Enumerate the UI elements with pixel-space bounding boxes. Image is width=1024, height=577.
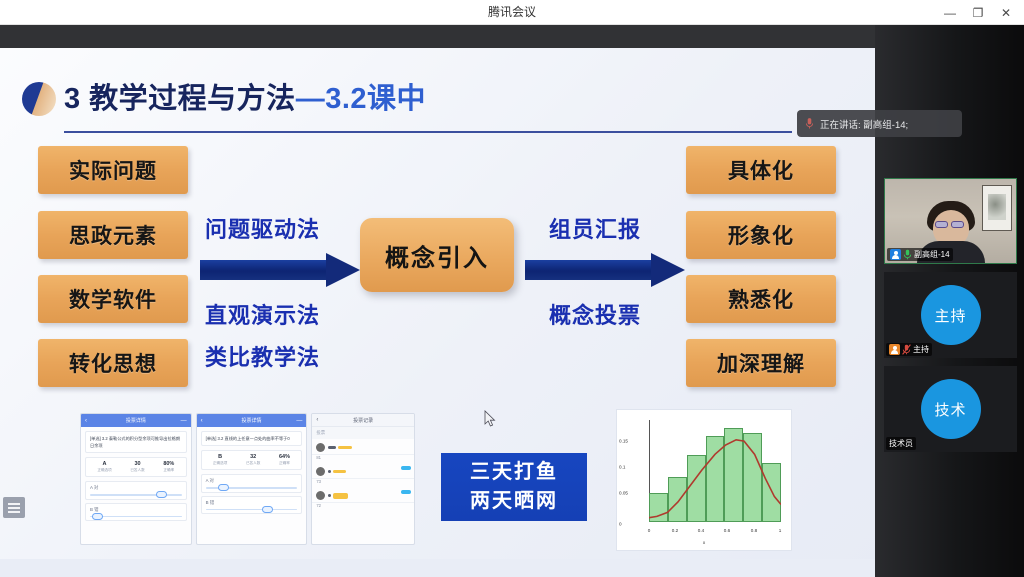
phone1-back-icon: ‹ bbox=[85, 418, 87, 424]
phone1-question-card: [单选] 3.2 泰勒公式的积分型余项可推导出拉格朗日余项 bbox=[85, 431, 187, 453]
chart-xtick-origin: 0 bbox=[648, 528, 651, 533]
phone1-title: 投票详情 bbox=[126, 417, 146, 424]
phone1-stats: A正确选项 30已答人数 80%正确率 bbox=[85, 457, 187, 477]
phone3-titlebar: ‹ 投票记录 bbox=[312, 414, 414, 427]
center-concept-box: 概念引入 bbox=[360, 218, 514, 292]
phone2-stat-2-label: 已答人数 bbox=[246, 461, 260, 466]
person-icon bbox=[890, 249, 901, 260]
chart-ytick-2: 0.1 bbox=[619, 465, 625, 470]
idiom-box: 三天打鱼 两天晒网 bbox=[441, 453, 587, 521]
phone3-record-3-number: 72 bbox=[312, 503, 414, 511]
window-title: 腾讯会议 bbox=[0, 0, 1024, 25]
phone2-more-icon: — bbox=[296, 418, 302, 424]
wall-art bbox=[982, 185, 1012, 231]
participant-label-2: 主持 bbox=[886, 343, 932, 356]
left-box-4: 转化思想 bbox=[38, 339, 188, 387]
avatar: 主持 bbox=[921, 285, 981, 345]
left-box-3: 数学软件 bbox=[38, 275, 188, 323]
chart-xtick-2: 0.4 bbox=[698, 528, 704, 533]
phone-screenshot-2: ‹ 投票详情 — [单选] 3.2 直线的上任意一点处的曲率不等于0 B正确选项… bbox=[196, 413, 308, 545]
phone1-stat-3-label: 正确率 bbox=[163, 468, 174, 473]
phone3-back-icon: ‹ bbox=[316, 417, 318, 423]
participant-tile-tech[interactable]: 技术 技术员 bbox=[884, 366, 1017, 452]
right-box-4: 加深理解 bbox=[686, 339, 836, 387]
left-box-1: 实际问题 bbox=[38, 146, 188, 194]
phone-screenshot-3: ‹ 投票记录 投票 81 73 bbox=[311, 413, 415, 545]
mouse-cursor-icon bbox=[484, 410, 496, 428]
participants-list-icon[interactable] bbox=[3, 497, 25, 518]
phone1-stat-1-label: 正确选项 bbox=[97, 468, 111, 473]
phone2-option-b: B 错 bbox=[201, 496, 303, 515]
avatar bbox=[316, 443, 325, 452]
phone3-record-2-number: 73 bbox=[312, 479, 414, 487]
mic-on-icon bbox=[903, 249, 912, 260]
avatar: 技术 bbox=[921, 379, 981, 439]
avatar bbox=[316, 467, 325, 476]
close-icon[interactable]: ✕ bbox=[992, 1, 1020, 25]
histogram-chart: 0 0.05 0.1 0.15 0 0.2 0.4 0.6 0.8 1 x bbox=[616, 409, 792, 551]
right-box-2: 形象化 bbox=[686, 211, 836, 259]
participant-tile-video[interactable]: 副高组-14 bbox=[884, 178, 1017, 264]
mic-muted-icon bbox=[902, 344, 911, 355]
phone2-option-a: A 对 bbox=[201, 474, 303, 493]
right-label-top: 组员汇报 bbox=[549, 212, 641, 244]
phone1-option-a: A 对 bbox=[85, 481, 187, 500]
speaking-indicator: 正在讲话: 副高组-14; bbox=[797, 110, 962, 137]
phone2-stat-3-value: 64% bbox=[279, 454, 290, 460]
microphone-icon bbox=[805, 117, 814, 130]
phone1-more-icon: — bbox=[181, 418, 187, 424]
phone1-option-a-key: A 对 bbox=[90, 485, 182, 491]
right-label-bottom: 概念投票 bbox=[549, 298, 641, 330]
phone1-option-b: B 错 bbox=[85, 503, 187, 522]
page-title-main: 3 教学过程与方法 bbox=[64, 83, 296, 115]
chart-xtick-1: 0.2 bbox=[672, 528, 678, 533]
chart-xlabel: x bbox=[703, 540, 705, 545]
participant-name-2: 主持 bbox=[913, 344, 929, 355]
left-label-mid: 直观演示法 bbox=[205, 298, 320, 330]
host-person-icon bbox=[889, 344, 900, 355]
phone3-title: 投票记录 bbox=[353, 417, 373, 424]
list-item bbox=[312, 463, 414, 479]
participant-label-3: 技术员 bbox=[886, 437, 916, 450]
phone1-question-text: [单选] 3.2 泰勒公式的积分型余项可推导出拉格朗日余项 bbox=[90, 435, 182, 449]
phone2-stat-1-value: B bbox=[213, 454, 227, 460]
chart-xtick-3: 0.6 bbox=[724, 528, 730, 533]
avatar bbox=[316, 491, 325, 500]
phone2-back-icon: ‹ bbox=[201, 418, 203, 424]
list-item bbox=[312, 439, 414, 455]
phone1-titlebar: ‹ 投票详情 — bbox=[81, 414, 191, 427]
participant-tile-host[interactable]: 主持 主持 bbox=[884, 272, 1017, 358]
phone1-stat-1-value: A bbox=[97, 461, 111, 467]
right-box-3: 熟悉化 bbox=[686, 275, 836, 323]
phone2-stat-1-label: 正确选项 bbox=[213, 461, 227, 466]
phone-screenshot-1: ‹ 投票详情 — [单选] 3.2 泰勒公式的积分型余项可推导出拉格朗日余项 A… bbox=[80, 413, 192, 545]
left-box-2: 思政元素 bbox=[38, 211, 188, 259]
title-bar: 腾讯会议 — ❐ ✕ bbox=[0, 0, 1024, 25]
phone2-stat-2-value: 32 bbox=[246, 454, 260, 460]
bullet-circle-icon bbox=[22, 82, 56, 116]
right-box-1: 具体化 bbox=[686, 146, 836, 194]
chart-ytick-1: 0.05 bbox=[619, 491, 628, 496]
page-title: 3 教学过程与方法—3.2课中 bbox=[64, 75, 426, 117]
phone1-stat-2-value: 30 bbox=[130, 461, 144, 467]
slide-header: 3 教学过程与方法—3.2课中 bbox=[22, 73, 812, 133]
left-label-bottom: 类比教学法 bbox=[205, 340, 320, 372]
chart-ytick-3: 0.15 bbox=[619, 439, 628, 444]
shared-slide-area: 3 教学过程与方法—3.2课中 实际问题 思政元素 数学软件 转化思想 具体化 … bbox=[0, 48, 875, 577]
status-badge bbox=[401, 490, 411, 494]
phone3-section-label: 投票 bbox=[312, 427, 414, 439]
phone1-option-b-key: B 错 bbox=[90, 507, 182, 513]
phone-screenshots-group: ‹ 投票详情 — [单选] 3.2 泰勒公式的积分型余项可推导出拉格朗日余项 A… bbox=[80, 413, 415, 545]
phone3-record-1-number: 81 bbox=[312, 455, 414, 463]
left-label-top: 问题驱动法 bbox=[205, 212, 320, 244]
status-badge bbox=[401, 466, 411, 470]
phone2-question-text: [单选] 3.2 直线的上任意一点处的曲率不等于0 bbox=[206, 435, 298, 442]
chart-ytick-0: 0 bbox=[619, 522, 622, 527]
phone1-stat-3-value: 80% bbox=[163, 461, 174, 467]
title-divider bbox=[64, 131, 792, 133]
speaking-text: 正在讲话: 副高组-14; bbox=[820, 117, 908, 131]
idiom-line-2: 两天晒网 bbox=[470, 487, 558, 516]
maximize-icon[interactable]: ❐ bbox=[964, 1, 992, 25]
left-arrow-icon bbox=[200, 253, 360, 287]
phone2-option-b-key: B 错 bbox=[206, 500, 298, 506]
phone2-question-card: [单选] 3.2 直线的上任意一点处的曲率不等于0 bbox=[201, 431, 303, 446]
phone1-stat-2-label: 已答人数 bbox=[130, 468, 144, 473]
participant-name-3: 技术员 bbox=[889, 438, 913, 449]
phone2-stat-3-label: 正确率 bbox=[279, 461, 290, 466]
list-item bbox=[312, 487, 414, 503]
phone2-titlebar: ‹ 投票详情 — bbox=[197, 414, 307, 427]
idiom-line-1: 三天打鱼 bbox=[470, 458, 558, 487]
chart-xtick-4: 0.8 bbox=[751, 528, 757, 533]
phone2-title: 投票详情 bbox=[241, 417, 261, 424]
tencent-meeting-window: 腾讯会议 — ❐ ✕ 3 教学过程与方法—3.2课中 实际问题 思政元素 数学软… bbox=[0, 0, 1024, 577]
chart-density-curve bbox=[649, 420, 781, 552]
participant-label-1: 副高组-14 bbox=[887, 248, 953, 261]
chart-xtick-5: 1 bbox=[779, 528, 782, 533]
phone2-stats: B正确选项 32已答人数 64%正确率 bbox=[201, 450, 303, 470]
minimize-icon[interactable]: — bbox=[936, 1, 964, 25]
page-title-accent: —3.2课中 bbox=[296, 83, 426, 115]
shared-screen-topbar bbox=[0, 25, 875, 48]
slide-bottom-strip bbox=[0, 559, 875, 577]
window-controls: — ❐ ✕ bbox=[936, 0, 1020, 25]
right-arrow-icon bbox=[525, 253, 685, 287]
participant-name-1: 副高组-14 bbox=[914, 249, 950, 260]
